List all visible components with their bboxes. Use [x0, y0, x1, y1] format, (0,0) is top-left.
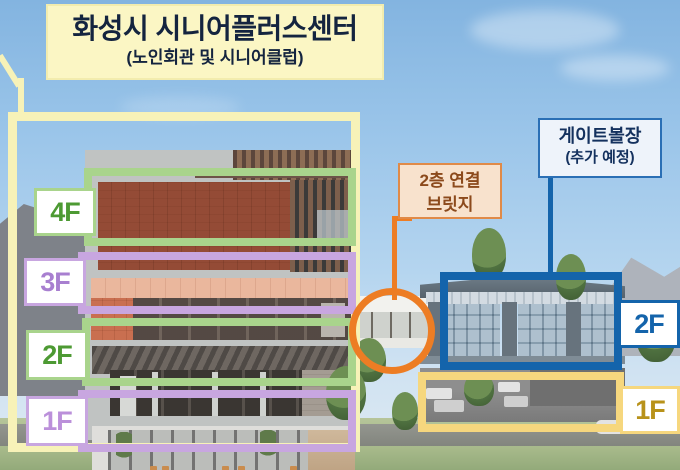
tree	[392, 392, 418, 430]
gateball-floor-chip-2f: 2F	[618, 300, 680, 348]
infographic-canvas: 4F 3F 2F 1F 2F 1F 화성시 시니어플러스센터 (노인회관 및 시…	[0, 0, 680, 470]
title-sub-text: (노인회관 및 시니어클럽)	[48, 46, 382, 70]
floor-chip-3f: 3F	[24, 258, 86, 306]
gateball-callout-box: 게이트볼장 (추가 예정)	[538, 118, 662, 178]
bridge-callout-line1: 2층 연결	[400, 169, 500, 193]
highlight-frame-2f	[82, 318, 356, 386]
bridge-callout-box: 2층 연결 브릿지	[398, 163, 502, 219]
floor-chip-4f: 4F	[34, 188, 96, 236]
gateball-callout-line2: (추가 예정)	[540, 148, 660, 168]
floor-chip-2f: 2F	[26, 330, 88, 380]
furniture	[162, 466, 169, 470]
parking-floor-chip-1f: 1F	[620, 386, 680, 434]
bridge-highlight-circle	[349, 288, 435, 374]
gateball-leader-line	[548, 178, 553, 278]
highlight-frame-1f	[78, 390, 356, 452]
cloud	[560, 55, 670, 81]
highlight-frame-3f	[78, 252, 356, 314]
title-callout-box: 화성시 시니어플러스센터 (노인회관 및 시니어클럽)	[46, 4, 384, 80]
highlight-frame-gateball-2f	[440, 272, 622, 370]
title-main-text: 화성시 시니어플러스센터	[48, 12, 382, 46]
furniture	[222, 466, 229, 470]
furniture	[238, 466, 245, 470]
highlight-frame-4f	[84, 168, 356, 246]
furniture	[150, 466, 157, 470]
gateball-callout-line1: 게이트볼장	[540, 124, 660, 148]
cloud	[470, 10, 620, 50]
furniture	[290, 466, 297, 470]
title-leader-vertical	[18, 78, 24, 114]
bridge-callout-line2: 브릿지	[400, 193, 500, 217]
highlight-frame-parking-1f	[418, 372, 624, 432]
floor-chip-1f: 1F	[26, 396, 88, 446]
